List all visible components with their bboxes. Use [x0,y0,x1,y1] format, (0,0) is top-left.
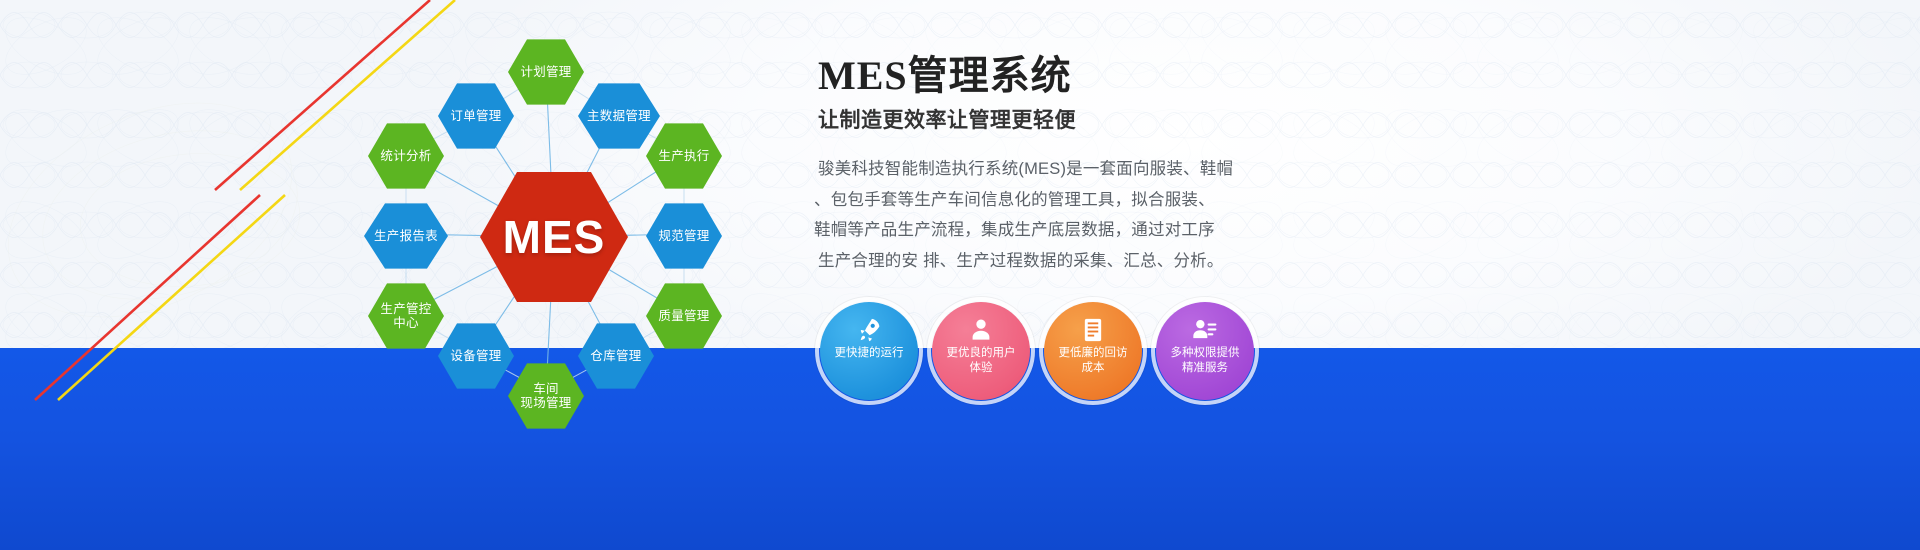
badge-label-line2: 体验 [938,361,1024,376]
description-line-1: 骏美科技智能制造执行系统(MES)是一套面向服装、鞋帽 [818,154,1288,185]
hex-label: 车间 现场管理 [520,382,571,411]
description-line-3: 鞋帽等产品生产流程，集成生产底层数据，通过对工序 [818,215,1288,246]
feature-badge-better-user-experience[interactable]: 更优良的用户 体验 [932,302,1030,400]
mes-hexagon-diagram: 计划管理 主数据管理 生产执行 规范管理 质量管理 仓库管理 车间 现场管理 设… [330,10,800,440]
description-line-2: 、包包手套等生产车间信息化的管理工具，拟合服装、 [818,185,1288,216]
feature-badge-faster-operation[interactable]: 更快捷的运行 [820,302,918,400]
hex-label: 生产报告表 [374,229,438,243]
badge-label-line1: 更优良的用户 [938,346,1024,361]
document-icon [1079,316,1107,344]
hex-label: 生产管控 中心 [380,302,431,331]
hex-label: 设备管理 [450,349,501,363]
hex-label: 订单管理 [450,109,501,123]
page-title: MES管理系统 [818,52,1288,100]
description-paragraph: 骏美科技智能制造执行系统(MES)是一套面向服装、鞋帽 、包包手套等生产车间信息… [818,154,1288,277]
feature-badge-multi-permission[interactable]: 多种权限提供 精准服务 [1156,302,1254,400]
badge-label-line2: 精准服务 [1162,361,1248,376]
badge-label-line1: 更低廉的回访 [1050,346,1136,361]
feature-badge-lower-revisit-cost[interactable]: 更低廉的回访 成本 [1044,302,1142,400]
description-line-4: 生产合理的安 排、生产过程数据的采集、汇总、分析。 [818,246,1288,277]
hex-label: 质量管理 [658,309,709,323]
permission-icon [1191,316,1219,344]
hex-label: 统计分析 [380,149,431,163]
badge-label: 更低廉的回访 成本 [1050,346,1136,376]
rocket-icon [855,316,883,344]
badge-label: 多种权限提供 精准服务 [1162,346,1248,376]
hex-label: 规范管理 [658,229,709,243]
hex-center-label: MES [503,210,606,264]
hex-label: 生产执行 [658,149,709,163]
badge-label-line1: 多种权限提供 [1162,346,1248,361]
banner-text-panel: MES管理系统 让制造更效率让管理更轻便 骏美科技智能制造执行系统(MES)是一… [818,52,1288,277]
page-subtitle: 让制造更效率让管理更轻便 [818,104,1288,134]
user-icon [967,316,995,344]
badge-label-line1: 更快捷的运行 [826,346,912,361]
badge-label-line2: 成本 [1050,361,1136,376]
feature-badge-list: 更快捷的运行 更优良的用户 体验 [820,302,1254,400]
badge-label: 更优良的用户 体验 [938,346,1024,376]
banner-stage: 计划管理 主数据管理 生产执行 规范管理 质量管理 仓库管理 车间 现场管理 设… [0,0,1920,550]
hex-label: 主数据管理 [587,109,651,123]
badge-label: 更快捷的运行 [826,346,912,361]
hex-label: 计划管理 [520,65,571,79]
hex-label: 仓库管理 [590,349,641,363]
